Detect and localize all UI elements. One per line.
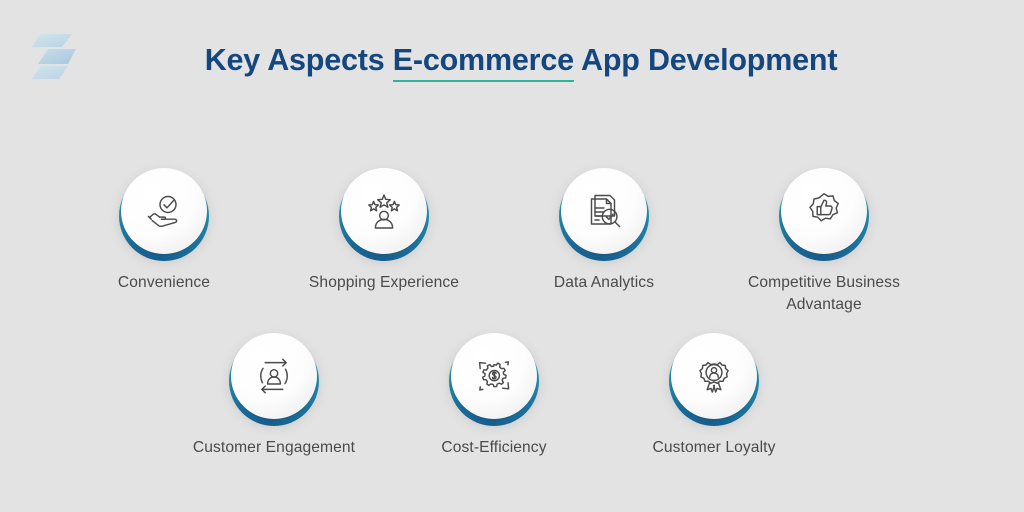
icon-badge <box>781 168 867 254</box>
aspect-label: Customer Engagement <box>193 437 355 459</box>
aspect-label: Shopping Experience <box>309 272 459 294</box>
icon-badge <box>341 168 427 254</box>
icon-badge <box>121 168 207 254</box>
hand-holding-check-icon <box>144 191 184 231</box>
badge-disc <box>121 168 207 254</box>
person-three-stars-icon <box>364 191 404 231</box>
person-award-rosette-icon <box>694 356 734 396</box>
badge-disc <box>561 168 647 254</box>
icon-badge <box>671 333 757 419</box>
aspect-card-convenience[interactable]: Convenience <box>54 168 274 316</box>
title-highlight: E-commerce <box>393 43 574 82</box>
aspect-row-2: Customer Engagement Cost-Efficiency <box>0 333 1024 459</box>
badge-disc <box>451 333 537 419</box>
icon-badge <box>231 333 317 419</box>
aspect-card-data-analytics[interactable]: Data Analytics <box>494 168 714 316</box>
title-after: App Development <box>574 43 837 77</box>
badge-disc <box>781 168 867 254</box>
aspect-label: Cost-Efficiency <box>441 437 546 459</box>
title-before: Key Aspects <box>205 43 393 77</box>
aspect-label: Convenience <box>118 272 210 294</box>
aspect-label: Data Analytics <box>554 272 654 294</box>
icon-badge <box>451 333 537 419</box>
aspect-card-customer-engagement[interactable]: Customer Engagement <box>164 333 384 459</box>
person-cycle-arrows-icon <box>254 356 294 396</box>
badge-disc <box>341 168 427 254</box>
aspect-label: Customer Loyalty <box>653 437 776 459</box>
badge-disc <box>231 333 317 419</box>
aspect-card-shopping-experience[interactable]: Shopping Experience <box>274 168 494 316</box>
gear-dollar-arrows-icon <box>474 356 514 396</box>
thumbs-up-badge-icon <box>804 191 844 231</box>
aspect-label: Competitive Business Advantage <box>724 272 924 316</box>
aspect-row-1: Convenience Shopping Experience <box>0 168 1024 316</box>
badge-disc <box>671 333 757 419</box>
page-title: Key Aspects E-commerce App Development <box>0 43 1024 78</box>
icon-badge <box>561 168 647 254</box>
aspect-card-competitive-business-advantage[interactable]: Competitive Business Advantage <box>714 168 934 316</box>
aspect-card-customer-loyalty[interactable]: Customer Loyalty <box>604 333 824 459</box>
aspect-card-cost-efficiency[interactable]: Cost-Efficiency <box>384 333 604 459</box>
document-magnifier-check-icon <box>584 191 624 231</box>
